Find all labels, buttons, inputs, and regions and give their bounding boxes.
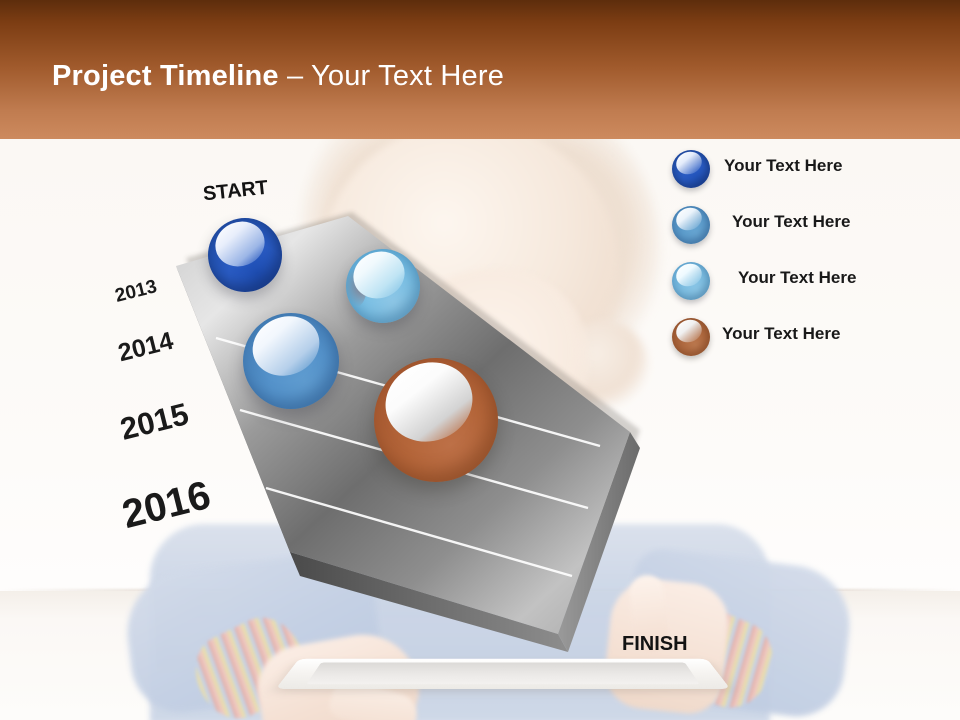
milestone-sphere-2[interactable] [346, 249, 420, 323]
legend-label-3: Your Text Here [738, 268, 856, 288]
sphere-bullet-icon [672, 150, 710, 188]
legend-item-3[interactable]: Your Text Here [672, 262, 952, 318]
page-title-light: – Your Text Here [279, 60, 504, 92]
milestone-sphere-1[interactable] [208, 218, 282, 292]
header-band: Project Timeline – Your Text Here [0, 0, 960, 139]
bullet-highlight [673, 204, 705, 234]
photo-tablet [276, 659, 731, 689]
finish-label: FINISH [622, 633, 688, 656]
legend-label-4: Your Text Here [722, 324, 840, 344]
legend-item-4[interactable]: Your Text Here [672, 318, 952, 374]
bullet-highlight [673, 148, 705, 178]
legend-item-2[interactable]: Your Text Here [672, 206, 952, 262]
bullet-highlight [673, 260, 705, 290]
legend-label-1: Your Text Here [724, 156, 842, 176]
bullet-highlight [673, 316, 705, 346]
milestone-sphere-3[interactable] [243, 313, 339, 409]
page-title-bold: Project Timeline [52, 60, 279, 92]
page-title: Project Timeline – Your Text Here [52, 60, 504, 93]
slide-canvas: 2013 2014 2015 2016 START FINISH Project… [0, 0, 960, 720]
legend-label-2: Your Text Here [732, 212, 850, 232]
legend: Your Text Here Your Text Here Your Text … [672, 150, 952, 374]
photo-tablet-screen [306, 663, 699, 685]
legend-item-1[interactable]: Your Text Here [672, 150, 952, 206]
milestone-sphere-4[interactable] [374, 358, 498, 482]
sphere-bullet-icon [672, 262, 710, 300]
sphere-bullet-icon [672, 318, 710, 356]
sphere-bullet-icon [672, 206, 710, 244]
